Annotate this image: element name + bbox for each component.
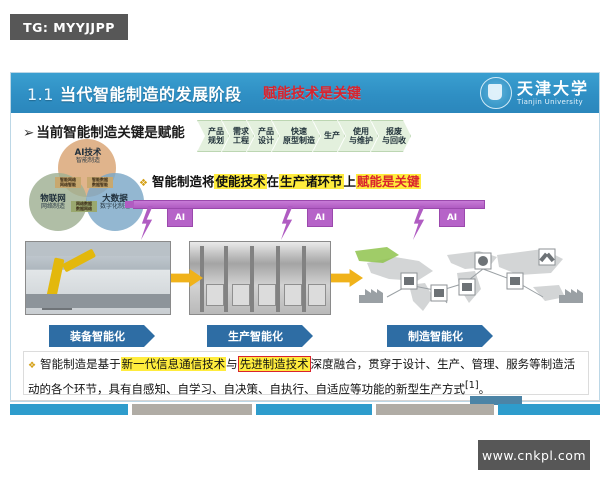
mid-part3: 上 [344,174,357,189]
photo1-bench [26,294,170,308]
chevron-6-line1: 使用 [353,127,369,136]
hall-machine [308,284,326,306]
presentation-slide: 1.1 当代智能制造的发展阶段 赋能技术是关键 天津大学 Tianjin Uni… [10,72,600,402]
chevron-2-line1: 需求 [233,127,249,136]
chevron-4-line1: 快速 [291,127,307,136]
definition-paragraph: ❖智能制造是基于新一代信息通信技术与先进制造技术深度融合，贯穿于设计、生产、管理… [28,355,584,399]
footer-segment [132,404,252,415]
university-logo: 天津大学 Tianjin University [480,76,589,110]
logo-name-en: Tianjin University [517,99,583,106]
slide-header-band: 1.1 当代智能制造的发展阶段 赋能技术是关键 天津大学 Tianjin Uni… [11,73,599,113]
venn-label-ai: AI技术 智能制造 [69,149,107,165]
para-period: 。 [479,382,491,396]
ai-tag-3: AI [439,208,465,227]
chevron-step-4: 快速 原型制造 [272,120,320,152]
venn-label-iot-sub: 网络制造 [31,204,75,211]
mid-statement: ❖智能制造将使能技术在生产诸环节上赋能是关键 [139,171,421,190]
definition-paragraph-box: ❖智能制造是基于新一代信息通信技术与先进制造技术深度融合，贯穿于设计、生产、管理… [23,351,589,395]
photo1-ceiling [26,242,170,256]
watermark-bottom-right: www.cnkpl.com [478,440,590,470]
factory-production-hall-photo [189,241,331,315]
footer-segment [498,404,600,415]
para-highlight-yellow: 新一代信息通信技术 [121,357,227,371]
venn-intersection-2: 智能数据数据智能 [87,177,113,188]
stage-label-production: 生产智能化 [207,325,313,347]
university-seal-icon [480,77,512,109]
chevron-1-line1: 产品 [208,127,224,136]
para-part3: 深度融合，贯穿于设计、生产、管理、服务等制造 [311,357,564,371]
page-title: 1.1 当代智能制造的发展阶段 [27,81,242,105]
world-map-graphic [347,241,591,315]
mid-part2: 在 [267,174,280,189]
chevron-7-line1: 报废 [386,127,402,136]
diamond-bullet-icon: ❖ [139,178,148,189]
chevron-6-line2: 与维护 [349,136,373,145]
mid-highlight-3-red: 赋能是关键 [356,174,421,189]
stage-label-equipment: 装备智能化 [49,325,155,347]
para-citation: [1] [465,380,479,391]
para-part1: 智能制造是基于 [40,357,121,371]
ai-tag-1: AI [167,208,193,227]
chevron-1-line2: 规划 [208,136,224,145]
chevron-3-line2: 设计 [258,136,274,145]
chevron-5-line1: 生产 [324,131,340,140]
venn-label-ai-sub: 智能制造 [69,158,107,165]
para-part2: 与 [226,357,238,371]
lightning-bolt-icon-3 [411,206,427,240]
hall-column [302,246,306,312]
mid-highlight-2: 生产诸环节 [279,174,344,189]
chevron-step-1: 产品 规划 [197,120,229,152]
hall-column [250,246,254,312]
hall-machine [284,284,302,306]
process-chevron-row: 产品 规划 需求 工程 产品 设计 快速 原型制造 生产 使用 与维护 报废 与… [197,120,404,152]
slide-number: 1.1 [27,85,54,104]
hall-machine [206,284,224,306]
watermark-top-left: TG: MYYJJPP [10,14,128,40]
footer-segment-strip [10,404,600,415]
para-highlight-boxed: 先进制造技术 [238,356,311,372]
chevron-3-line1: 产品 [258,127,274,136]
global-manufacturing-network-map [347,241,591,315]
hall-machine [232,284,250,306]
venn-label-iot: 物联网 网络制造 [31,195,75,211]
diamond-bullet-icon-2: ❖ [28,361,36,371]
logo-name-cn: 天津大学 [517,81,589,97]
mid-part1: 智能制造将 [152,174,215,189]
chevron-2-line2: 工程 [233,136,249,145]
lightning-bolt-icon-2 [279,206,295,240]
bullet-key-point: ➢当前智能制造关键是赋能 [23,121,185,141]
venn-diagram: 智能网络网络智能 智能数据数据智能 网络数据数据网络 AI技术 智能制造 物联网… [25,139,145,234]
mid-highlight-1: 使能技术 [214,174,266,189]
footer-segment [376,404,494,415]
chevron-4-line2: 原型制造 [283,136,315,145]
venn-intersection-1: 智能网络网络智能 [55,177,81,188]
hall-column [276,246,280,312]
slide-subtitle: 赋能技术是关键 [263,83,361,103]
hall-column [224,246,228,312]
ai-tag-2: AI [307,208,333,227]
stage-label-manufacturing: 制造智能化 [387,325,493,347]
slide-title-text: 当代智能制造的发展阶段 [60,85,242,104]
footer-segment [256,404,372,415]
footer-segment [10,404,128,415]
hall-machine [258,284,276,306]
industrial-robot-arm-photo [25,241,171,315]
chevron-7-line2: 与回收 [382,136,406,145]
